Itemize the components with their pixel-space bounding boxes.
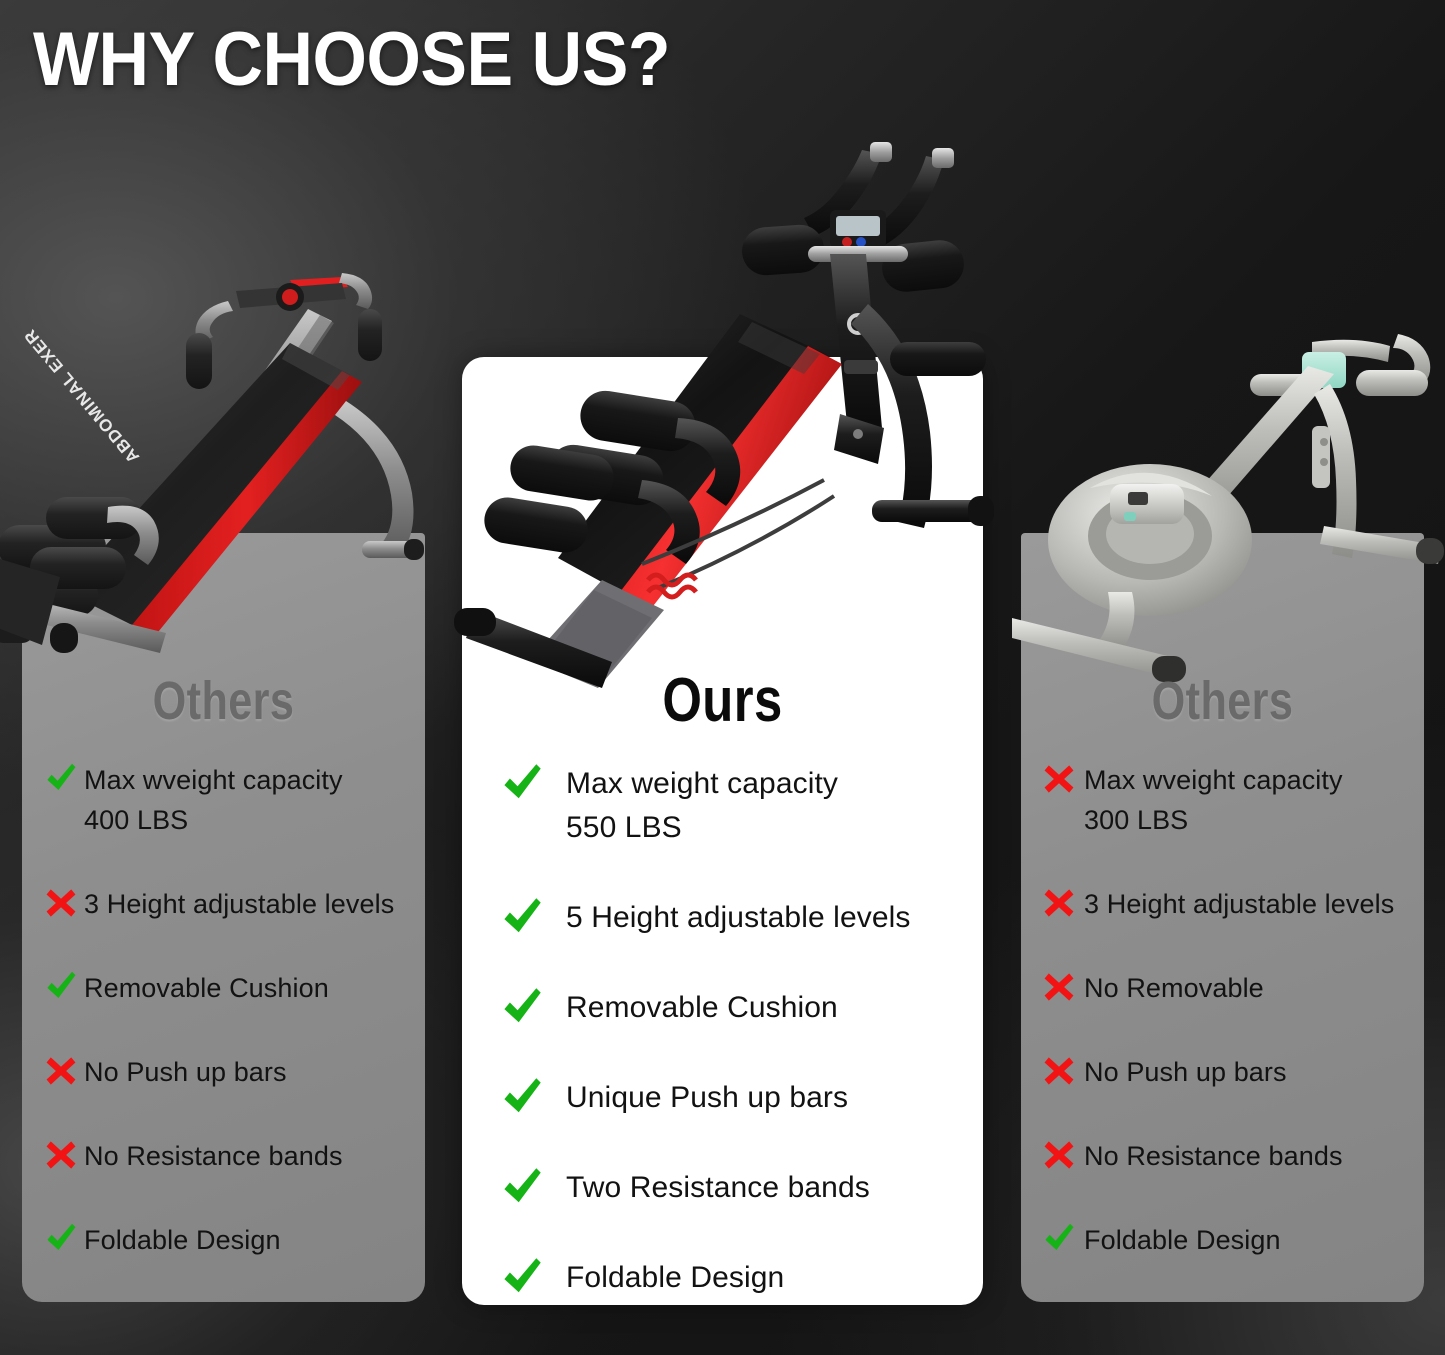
check-icon [44,1222,78,1256]
column-heading-right: Others [1061,672,1383,730]
check-icon [500,1076,544,1120]
feature-row: Foldable Design [44,1220,416,1260]
feature-text: Unique Push up bars [566,1076,848,1120]
feature-text: No Push up bars [84,1052,287,1092]
check-icon [44,970,78,1004]
feature-text: 3 Height adjustable levels [1084,884,1394,924]
product-image-right-competitor [1012,330,1445,690]
feature-text: Removable Cushion [566,986,838,1030]
feature-row: No Removable [1042,968,1414,1008]
product-image-center-ours [452,128,1012,688]
infographic-root: WHY CHOOSE US? [0,0,1445,1355]
check-icon [1042,1222,1076,1256]
feature-row: Max wveight capacity 300 LBS [1042,760,1414,840]
feature-text: No Removable [1084,968,1264,1008]
feature-list-center: Max weight capacity 550 LBS 5 Height adj… [500,762,970,1346]
feature-row: No Push up bars [44,1052,416,1092]
page-title: WHY CHOOSE US? [33,18,670,102]
cross-icon [44,886,78,920]
feature-text: Foldable Design [84,1220,281,1260]
feature-text: 3 Height adjustable levels [84,884,394,924]
feature-text: Max weight capacity 550 LBS [566,762,838,850]
cross-icon [1042,1138,1076,1172]
feature-row: 3 Height adjustable levels [1042,884,1414,924]
product-brand-text-left: ABDOMINAL EXER [20,325,143,466]
feature-row: 5 Height adjustable levels [500,896,970,940]
cross-icon [1042,762,1076,796]
feature-row: Removable Cushion [44,968,416,1008]
column-heading-center: Ours [509,666,936,736]
cross-icon [1042,1054,1076,1088]
feature-text: Max wveight capacity 300 LBS [1084,760,1343,840]
feature-text: No Push up bars [1084,1052,1287,1092]
feature-row: No Push up bars [1042,1052,1414,1092]
feature-text: No Resistance bands [84,1136,343,1176]
feature-row: Max wveight capacity 400 LBS [44,760,416,840]
feature-row: Removable Cushion [500,986,970,1030]
check-icon [500,762,544,806]
feature-row: 3 Height adjustable levels [44,884,416,924]
feature-row: Unique Push up bars [500,1076,970,1120]
check-icon [500,896,544,940]
check-icon [44,762,78,796]
check-icon [500,986,544,1030]
cross-icon [1042,886,1076,920]
feature-list-left: Max wveight capacity 400 LBS 3 Height ad… [44,760,416,1304]
cross-icon [44,1054,78,1088]
feature-row: Foldable Design [500,1256,970,1300]
feature-text: Two Resistance bands [566,1166,870,1210]
feature-row: No Resistance bands [44,1136,416,1176]
feature-row: Foldable Design [1042,1220,1414,1260]
feature-text: Removable Cushion [84,968,329,1008]
feature-text: No Resistance bands [1084,1136,1343,1176]
feature-row: No Resistance bands [1042,1136,1414,1176]
column-heading-left: Others [62,672,384,730]
cross-icon [1042,970,1076,1004]
check-icon [500,1256,544,1300]
feature-list-right: Max wveight capacity 300 LBS 3 Height ad… [1042,760,1414,1304]
feature-text: 5 Height adjustable levels [566,896,910,940]
feature-text: Foldable Design [566,1256,784,1300]
feature-row: Max weight capacity 550 LBS [500,762,970,850]
feature-text: Max wveight capacity 400 LBS [84,760,343,840]
product-image-left-competitor: ABDOMINAL EXER [0,225,460,680]
feature-row: Two Resistance bands [500,1166,970,1210]
feature-text: Foldable Design [1084,1220,1281,1260]
check-icon [500,1166,544,1210]
cross-icon [44,1138,78,1172]
